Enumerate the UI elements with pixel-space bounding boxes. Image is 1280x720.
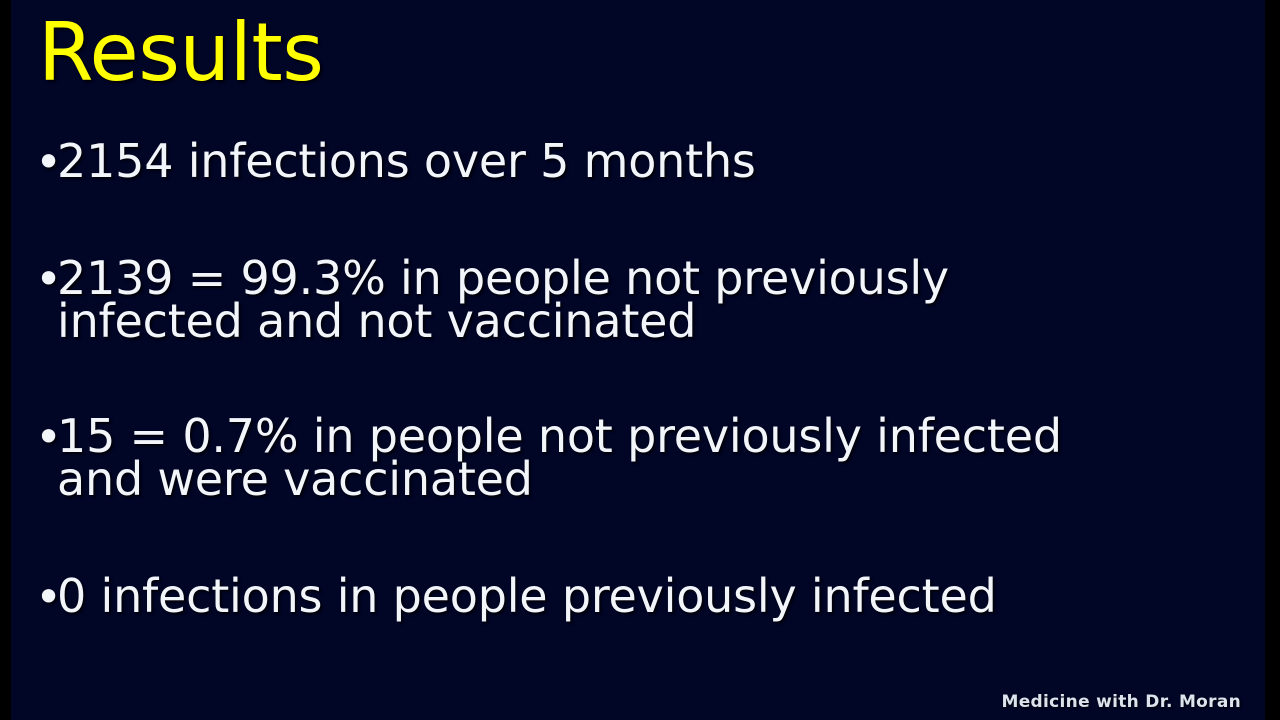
bullet-list: • 2154 infections over 5 months • 2139 =… — [35, 136, 1250, 623]
bullet-point-icon: • — [35, 571, 57, 623]
list-item-line: 2154 infections over 5 months — [57, 140, 1250, 183]
channel-watermark: Medicine with Dr. Moran — [1002, 692, 1241, 712]
list-item-text: 0 infections in people previously infect… — [57, 571, 1250, 618]
list-item: • 15 = 0.7% in people not previously inf… — [35, 411, 1250, 501]
list-item-line: 0 infections in people previously infect… — [57, 575, 1250, 618]
bullet-point-icon: • — [35, 136, 57, 188]
list-item-line: and were vaccinated — [57, 458, 1250, 501]
list-item-text: 15 = 0.7% in people not previously infec… — [57, 411, 1250, 501]
list-item: • 0 infections in people previously infe… — [35, 571, 1250, 623]
letterbox-bar-right — [1265, 0, 1280, 720]
slide-title: Results — [38, 13, 323, 93]
list-item-line: infected and not vaccinated — [57, 300, 1250, 343]
list-item: • 2139 = 99.3% in people not previously … — [35, 253, 1250, 343]
presentation-slide: Results • 2154 infections over 5 months … — [0, 0, 1280, 720]
list-item: • 2154 infections over 5 months — [35, 136, 1250, 188]
slide-canvas: Results • 2154 infections over 5 months … — [11, 0, 1265, 720]
list-item-text: 2139 = 99.3% in people not previously in… — [57, 253, 1250, 343]
letterbox-bar-left — [0, 0, 11, 720]
bullet-point-icon: • — [35, 411, 57, 463]
list-item-text: 2154 infections over 5 months — [57, 136, 1250, 183]
bullet-point-icon: • — [35, 253, 57, 305]
